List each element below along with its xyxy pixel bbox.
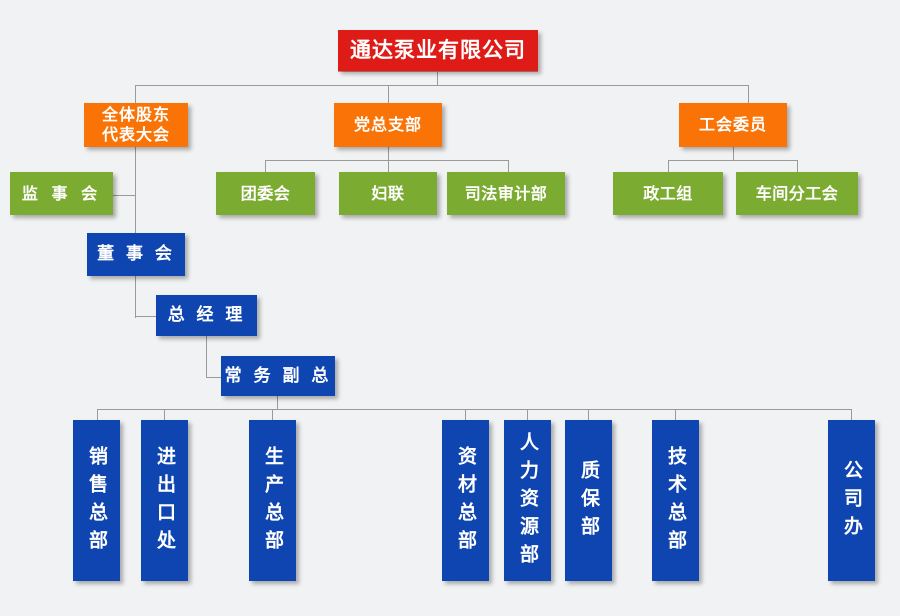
node-political-work-group[interactable]: 政工组 [613, 172, 723, 215]
node-youth-league[interactable]: 团委会 [216, 172, 315, 215]
connector-to-executive-vp [206, 377, 222, 378]
connector-union-drop [733, 147, 734, 161]
connector-to-general-manager [135, 316, 156, 317]
node-judicial-audit-department[interactable]: 司法审计部 [447, 172, 565, 215]
node-department-sales[interactable]: 销售总部 [73, 420, 120, 581]
org-chart-canvas: 通达泵业有限公司 全体股东 代表大会 党总支部 工会委员 监 事 会 团委会 妇… [0, 0, 900, 616]
node-general-manager[interactable]: 总 经 理 [156, 295, 257, 336]
connector-departments-bus [97, 409, 851, 410]
connector-to-political-work [668, 160, 669, 172]
node-department-technology[interactable]: 技术总部 [652, 420, 699, 581]
connector-party-bus [265, 160, 509, 161]
connector-root-underline [338, 71, 538, 72]
node-union-committee[interactable]: 工会委员 [679, 103, 787, 147]
connector-root-drop [437, 71, 438, 86]
node-supervisory-board[interactable]: 监 事 会 [10, 172, 113, 215]
connector-to-judicial-audit [508, 160, 509, 172]
node-department-materials[interactable]: 资材总部 [442, 420, 489, 581]
node-womens-federation[interactable]: 妇联 [339, 172, 437, 215]
connector-gm-spine [206, 335, 207, 378]
connector-to-party-branch [388, 85, 389, 103]
node-workshop-union[interactable]: 车间分工会 [736, 172, 858, 215]
node-department-human-resources[interactable]: 人力资源部 [504, 420, 551, 581]
connector-to-youth-league [265, 160, 266, 172]
node-root-company[interactable]: 通达泵业有限公司 [338, 30, 538, 71]
node-department-quality-assurance[interactable]: 质保部 [565, 420, 612, 581]
connector-vp-drop [277, 395, 278, 410]
connector-to-workshop-union [797, 160, 798, 172]
node-department-import-export[interactable]: 进出口处 [141, 420, 188, 581]
connector-union-bus [668, 160, 798, 161]
connector-party-drop [388, 147, 389, 161]
connector-to-shareholders [135, 85, 136, 103]
connector-to-supervisory-board [113, 195, 136, 196]
node-party-branch[interactable]: 党总支部 [334, 103, 442, 147]
node-department-production[interactable]: 生产总部 [249, 420, 296, 581]
node-executive-vice-president[interactable]: 常 务 副 总 [221, 356, 335, 396]
connector-to-womens-federation [388, 160, 389, 172]
node-department-company-office[interactable]: 公司办 [828, 420, 875, 581]
node-board-of-directors[interactable]: 董 事 会 [87, 233, 185, 276]
connector-to-union-committee [748, 85, 749, 103]
node-shareholders-assembly[interactable]: 全体股东 代表大会 [84, 103, 188, 147]
connector-level2-bus [135, 85, 749, 86]
